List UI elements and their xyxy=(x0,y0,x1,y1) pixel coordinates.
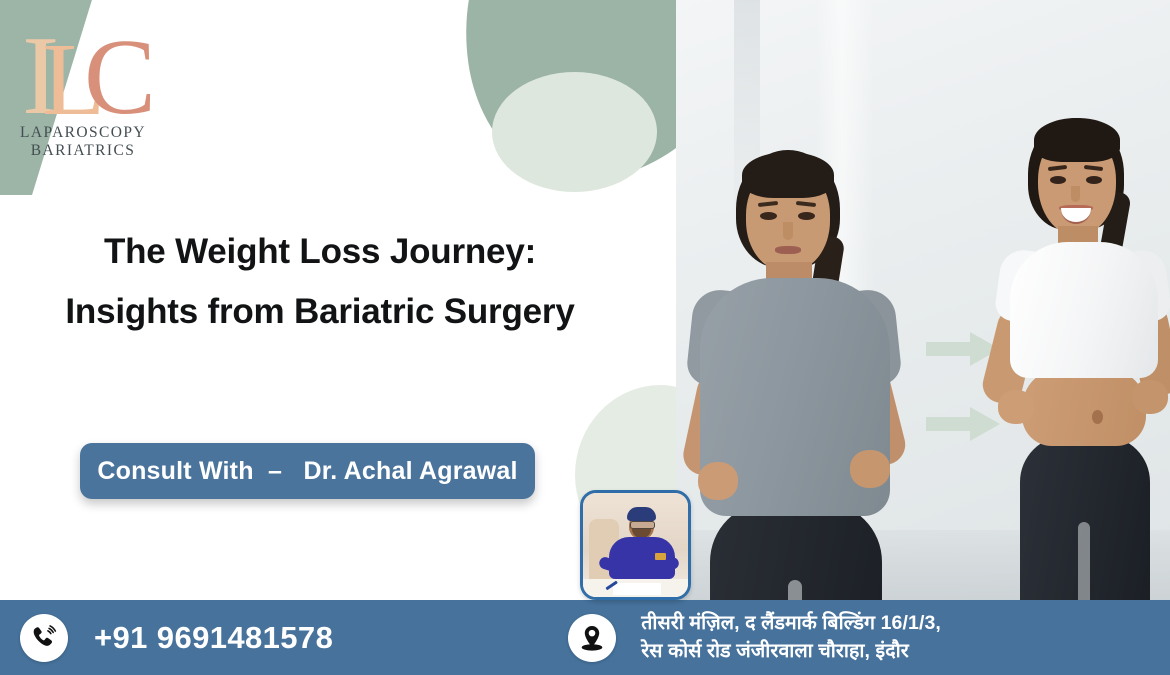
brand-wordmark: LAPAROSCOPY BARIATRICS xyxy=(8,124,158,161)
after-white-top xyxy=(1010,242,1158,378)
after-figure xyxy=(976,118,1170,600)
doctor-photo xyxy=(580,490,691,600)
phone-number: +91 9691481578 xyxy=(94,620,333,656)
map-pin-icon xyxy=(568,614,616,662)
before-eye-right xyxy=(798,212,815,220)
promo-banner: I L C LAPAROSCOPY BARIATRICS The Weight … xyxy=(0,0,1170,675)
before-leg-gap xyxy=(788,580,802,600)
before-eye-left xyxy=(760,212,777,220)
surgical-cap-icon xyxy=(627,507,656,521)
before-hair-top xyxy=(742,152,834,198)
phone-ringing-icon xyxy=(20,614,68,662)
after-navel xyxy=(1092,410,1103,424)
monogram-letter-c: C xyxy=(84,24,156,132)
after-eye-left xyxy=(1050,176,1066,184)
after-eye-right xyxy=(1086,176,1102,184)
transformation-photo-panel xyxy=(676,0,1170,600)
phone-contact[interactable]: +91 9691481578 xyxy=(20,614,333,662)
before-nose xyxy=(783,222,793,240)
after-hair-top xyxy=(1034,118,1120,162)
before-figure xyxy=(684,150,924,600)
before-fist-right xyxy=(850,450,890,488)
after-nose xyxy=(1071,186,1080,202)
brand-name-line2: BARIATRICS xyxy=(8,142,158,160)
contact-footer-bar: +91 9691481578 तीसरी मंज़िल, द लैंडमार्क… xyxy=(0,600,1170,675)
after-fist-left xyxy=(998,390,1034,424)
blob-decoration-light xyxy=(492,72,657,192)
after-fist-right xyxy=(1132,380,1168,414)
address-contact[interactable]: तीसरी मंज़िल, द लैंडमार्क बिल्डिंग 16/1/… xyxy=(568,610,941,665)
before-mouth xyxy=(775,246,801,254)
address-line2: रेस कोर्स रोड जंजीरवाला चौराहा, इंदौर xyxy=(641,638,941,666)
doctor-glasses xyxy=(630,521,655,529)
doctor-paper xyxy=(613,583,661,595)
consult-button[interactable]: Consult With – Dr. Achal Agrawal xyxy=(80,443,535,499)
after-midriff xyxy=(1022,368,1146,446)
address-line1: तीसरी मंज़िल, द लैंडमार्क बिल्डिंग 16/1/… xyxy=(641,610,941,638)
logo-monogram-icon: I L C xyxy=(8,14,158,122)
doctor-badge xyxy=(655,553,666,560)
brand-name-line1: LAPAROSCOPY xyxy=(8,124,158,142)
consult-button-label: Consult With – Dr. Achal Agrawal xyxy=(97,457,517,486)
after-leg-gap xyxy=(1078,522,1090,600)
before-fist-left xyxy=(698,462,738,500)
headline: The Weight Loss Journey: Insights from B… xyxy=(0,222,640,342)
headline-line2: Insights from Bariatric Surgery xyxy=(0,282,640,342)
brand-logo: I L C LAPAROSCOPY BARIATRICS xyxy=(8,14,158,161)
address-text: तीसरी मंज़िल, द लैंडमार्क बिल्डिंग 16/1/… xyxy=(641,610,941,665)
headline-line1: The Weight Loss Journey: xyxy=(104,232,536,271)
